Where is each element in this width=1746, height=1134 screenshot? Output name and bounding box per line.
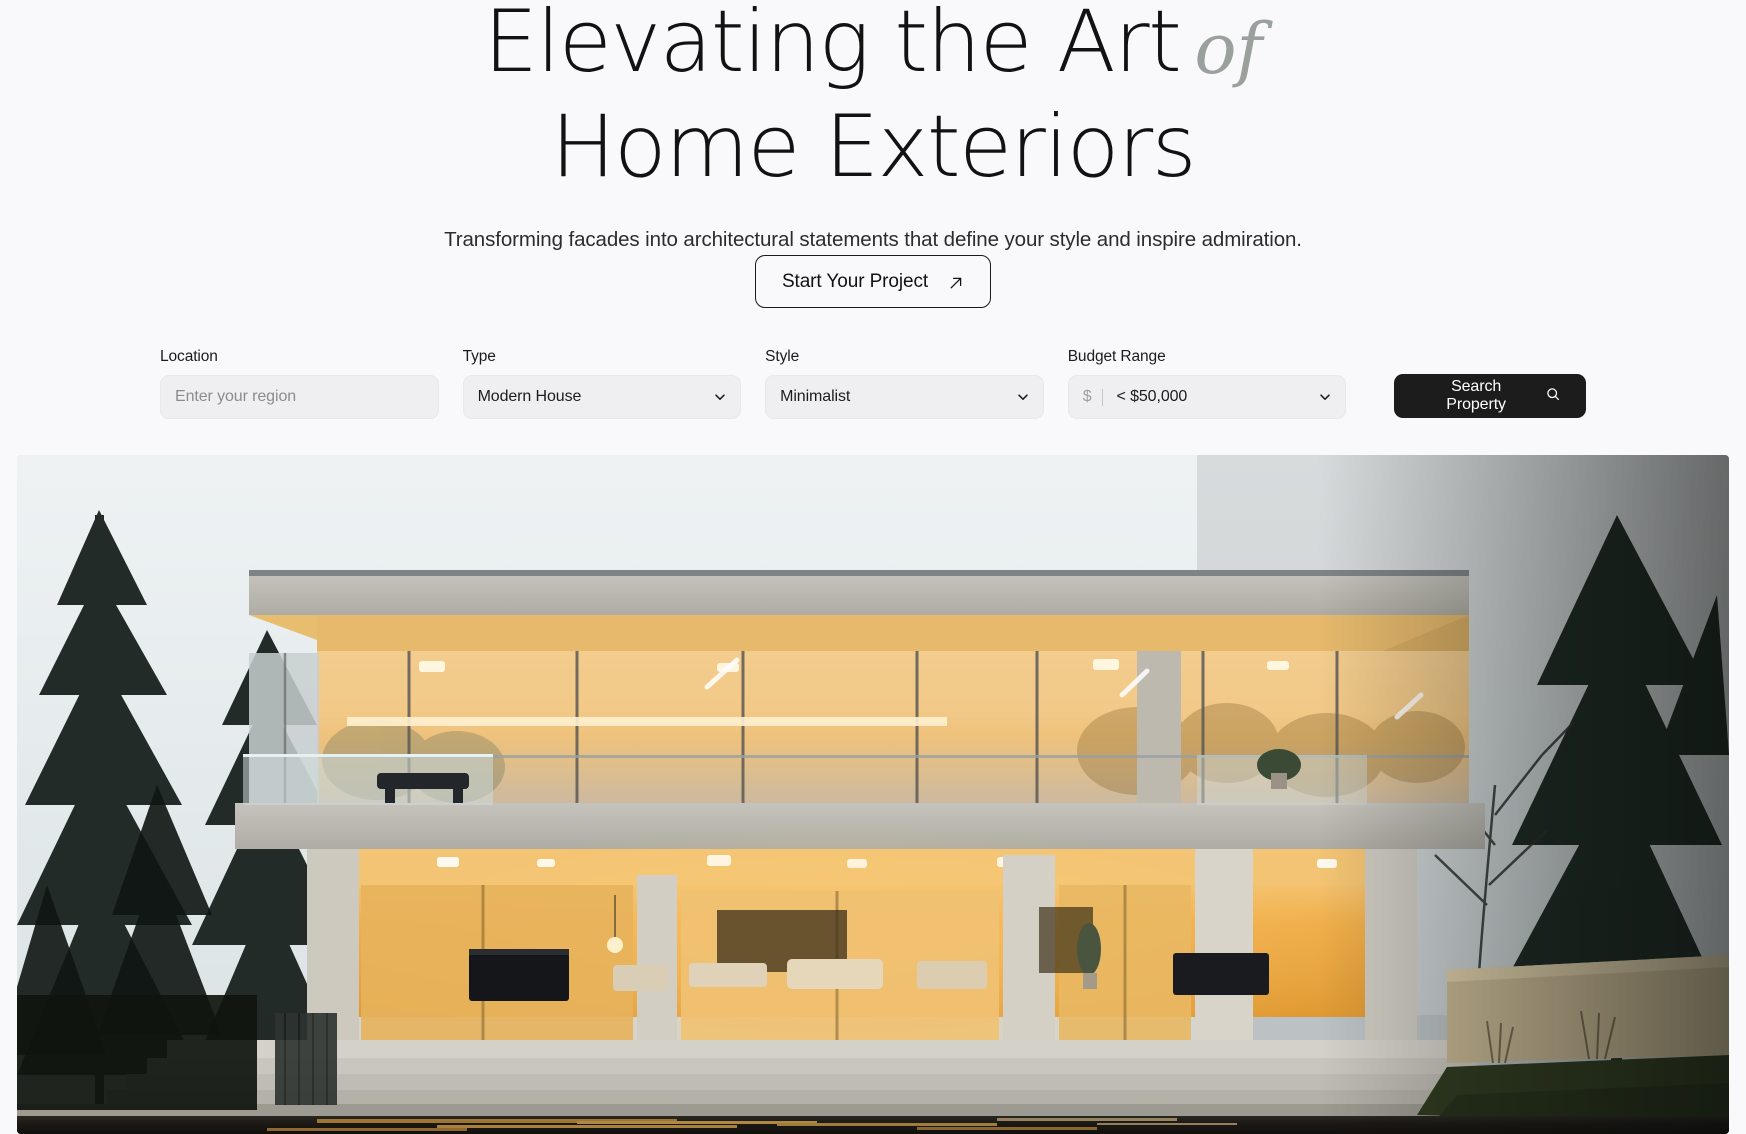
field-group-style: Style Minimalist — [765, 348, 1044, 419]
chevron-down-icon[interactable] — [713, 390, 727, 404]
location-field[interactable] — [160, 375, 439, 419]
search-button-label: Search Property — [1420, 378, 1532, 414]
budget-selected-value: < $50,000 — [1117, 388, 1188, 406]
landing-page: Elevating the Artof Home Exteriors Trans… — [0, 0, 1746, 1134]
chevron-down-icon[interactable] — [1016, 390, 1030, 404]
headline-line-1-text: Elevating the Art — [484, 0, 1181, 92]
search-input-location[interactable] — [175, 388, 424, 406]
label-style: Style — [765, 348, 1044, 366]
label-type: Type — [463, 348, 742, 366]
field-group-type: Type Modern House — [463, 348, 742, 419]
headline-line-1: Elevating the Artof — [0, 0, 1746, 97]
headline-emphasis-of: of — [1180, 8, 1262, 90]
label-location: Location — [160, 348, 439, 366]
currency-symbol: $ — [1083, 388, 1092, 406]
page-title: Elevating the Artof Home Exteriors — [0, 0, 1746, 197]
hero-subtitle: Transforming facades into architectural … — [0, 227, 1746, 253]
type-select[interactable]: Modern House — [463, 375, 742, 419]
search-icon — [1546, 387, 1560, 406]
style-select[interactable]: Minimalist — [765, 375, 1044, 419]
field-divider — [1102, 389, 1103, 406]
start-your-project-button[interactable]: Start Your Project — [755, 255, 991, 308]
label-budget-range: Budget Range — [1068, 348, 1347, 366]
type-selected-value: Modern House — [478, 388, 582, 406]
cta-label: Start Your Project — [782, 271, 928, 293]
hero-image-artwork — [17, 455, 1729, 1134]
search-property-button[interactable]: Search Property — [1394, 374, 1586, 418]
headline-line-2: Home Exteriors — [0, 97, 1746, 197]
search-submit-container: Search Property — [1394, 348, 1586, 418]
field-group-location: Location — [160, 348, 439, 419]
chevron-down-icon[interactable] — [1318, 390, 1332, 404]
property-search-bar: Location Type Modern House Style Minimal… — [0, 348, 1746, 452]
budget-range-select[interactable]: $ < $50,000 — [1068, 375, 1347, 419]
arrow-up-right-icon — [948, 275, 964, 291]
hero-property-image — [17, 455, 1729, 1134]
hero-text-block: Elevating the Artof Home Exteriors Trans… — [0, 0, 1746, 253]
cta-container: Start Your Project — [0, 255, 1746, 308]
style-selected-value: Minimalist — [780, 388, 850, 406]
field-group-budget-range: Budget Range $ < $50,000 — [1068, 348, 1347, 419]
